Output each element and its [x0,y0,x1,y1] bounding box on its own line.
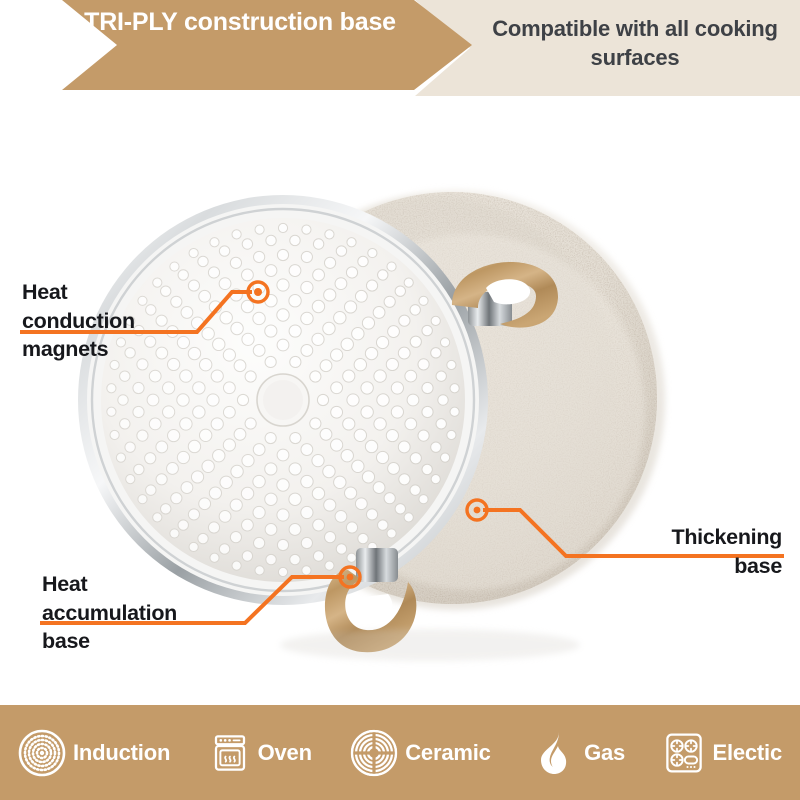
compat-item-ceramic: Ceramic [350,729,490,777]
compat-label-oven: Oven [258,740,312,766]
compat-label-induction: Induction [73,740,170,766]
compat-item-gas: Gas [529,729,625,777]
callout-label-heat-accumulation: Heat accumulation base [42,570,282,656]
ceramic-icon [350,729,398,777]
compat-item-induction: Induction [18,729,170,777]
callout-label-thickening: Thickening base [560,523,782,580]
compat-label-electric: Electic [712,740,782,766]
induction-icon [18,729,66,777]
gas-icon [529,729,577,777]
header-banner: TRI-PLY construction base Compatible wit… [0,0,800,100]
product-stage: Heat conduction magnets Heat accumulatio… [0,100,800,700]
compatibility-bar: Induction Oven [0,705,800,800]
compat-label-gas: Gas [584,740,625,766]
compat-item-oven: Oven [209,732,312,774]
induction-disc-face [101,218,465,582]
infographic-page: TRI-PLY construction base Compatible wit… [0,0,800,800]
oven-icon [209,732,251,774]
compat-label-ceramic: Ceramic [405,740,490,766]
compat-item-electric: Electic [663,732,782,774]
brand-medallion [257,374,309,426]
header-secondary-title: Compatible with all cooking surfaces [480,15,790,72]
callout-label-heat-conduction: Heat conduction magnets [22,278,232,364]
header-primary-title: TRI-PLY construction base [70,6,410,39]
electric-icon [663,732,705,774]
